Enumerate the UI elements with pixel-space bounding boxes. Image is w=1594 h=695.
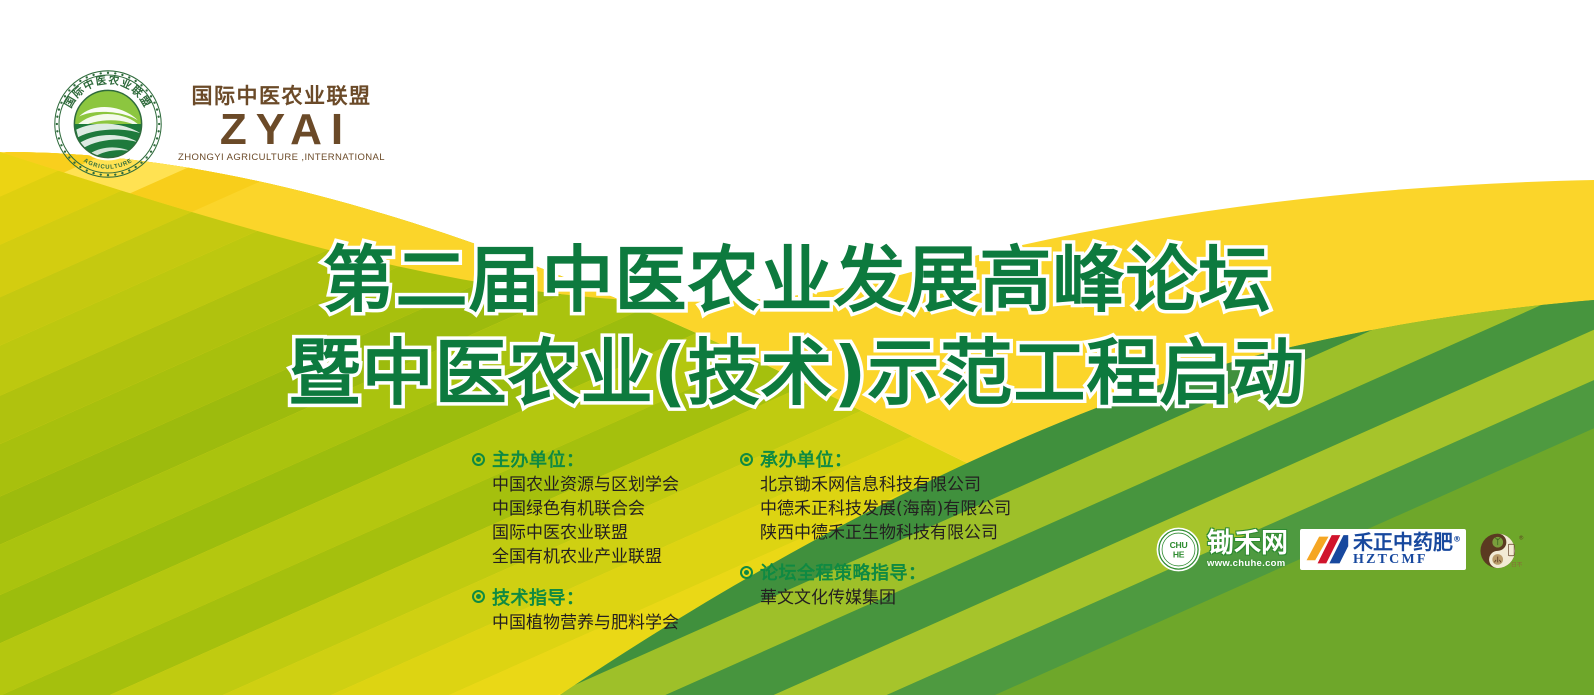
- bullet-icon: [740, 453, 753, 466]
- zyai-logo: 国际中医农业联盟 AGRICULTURE 国际中医农业联盟 ZYAI ZHONG…: [52, 68, 385, 180]
- info-group-strategy-guidance: 论坛全程策略指导： 華文文化传媒集团: [740, 559, 1030, 610]
- svg-text:日不: 日不: [1511, 561, 1523, 568]
- registered-mark: ®: [1453, 534, 1461, 543]
- info-group-host: 主办单位： 中国农业资源与区划学会 中国绿色有机联合会 国际中医农业联盟 全国有…: [472, 446, 730, 570]
- zyai-seal-icon: 国际中医农业联盟 AGRICULTURE: [52, 68, 164, 180]
- info-right-column: 承办单位： 北京锄禾网信息科技有限公司 中德禾正科技发展(海南)有限公司 陕西中…: [740, 446, 1030, 635]
- list-item: 国际中医农业联盟: [492, 521, 730, 545]
- list-item: 陕西中德禾正生物科技有限公司: [760, 521, 1030, 545]
- sponsor-logos: CHU HE 锄禾网 www.chuhe.com 禾正中药肥® HZTCMF: [1155, 526, 1524, 573]
- list-item: 中国农业资源与区划学会: [492, 473, 730, 497]
- zyai-wordmark: 国际中医农业联盟 ZYAI ZHONGYI AGRICULTURE ,INTER…: [178, 86, 385, 162]
- info-group-organizer: 承办单位： 北京锄禾网信息科技有限公司 中德禾正科技发展(海南)有限公司 陕西中…: [740, 446, 1030, 545]
- hztcmf-mark-icon: [1305, 533, 1349, 567]
- zyai-abbr: ZYAI: [220, 109, 352, 151]
- registered-mark-third: ®: [1519, 534, 1524, 541]
- chuhe-seal-icon: CHU HE: [1155, 526, 1202, 573]
- conference-banner: 国际中医农业联盟 AGRICULTURE 国际中医农业联盟 ZYAI ZHONG…: [0, 0, 1594, 695]
- group-heading: 承办单位：: [760, 446, 853, 472]
- hztcmf-name-cn-text: 禾正中药肥: [1353, 530, 1453, 554]
- bullet-icon: [472, 453, 485, 466]
- bullet-icon: [472, 590, 485, 603]
- group-heading: 论坛全程策略指导：: [760, 559, 927, 585]
- group-heading: 技术指导：: [492, 584, 585, 610]
- zyai-name-en: ZHONGYI AGRICULTURE ,INTERNATIONAL: [178, 153, 385, 163]
- group-heading: 主办单位：: [492, 446, 585, 472]
- hztcmf-name-en: HZTCMF: [1353, 553, 1461, 567]
- sponsor-hztcmf-logo: 禾正中药肥® HZTCMF: [1300, 529, 1466, 570]
- info-left-column: 主办单位： 中国农业资源与区划学会 中国绿色有机联合会 国际中医农业联盟 全国有…: [472, 446, 730, 635]
- sponsor-chuhe-logo: CHU HE 锄禾网 www.chuhe.com: [1155, 526, 1288, 573]
- info-group-tech-guidance: 技术指导： 中国植物营养与肥料学会: [472, 584, 730, 635]
- chuhe-name: 锄禾网: [1207, 530, 1288, 557]
- root-seal-icon: ® 日不: [1478, 529, 1524, 571]
- svg-text:CHU: CHU: [1170, 540, 1188, 550]
- chuhe-url: www.chuhe.com: [1207, 559, 1288, 569]
- hztcmf-name-cn: 禾正中药肥®: [1353, 532, 1461, 552]
- list-item: 全国有机农业产业联盟: [492, 545, 730, 569]
- list-item: 華文文化传媒集团: [760, 586, 1030, 610]
- svg-text:HE: HE: [1173, 549, 1185, 559]
- list-item: 中国植物营养与肥料学会: [492, 611, 730, 635]
- list-item: 中德禾正科技发展(海南)有限公司: [760, 497, 1030, 521]
- organizer-info: 主办单位： 中国农业资源与区划学会 中国绿色有机联合会 国际中医农业联盟 全国有…: [472, 446, 1030, 635]
- list-item: 北京锄禾网信息科技有限公司: [760, 473, 1030, 497]
- zyai-name-cn: 国际中医农业联盟: [191, 86, 371, 107]
- sponsor-root-seal-logo: ® 日不: [1478, 529, 1524, 571]
- bullet-icon: [740, 566, 753, 579]
- list-item: 中国绿色有机联合会: [492, 497, 730, 521]
